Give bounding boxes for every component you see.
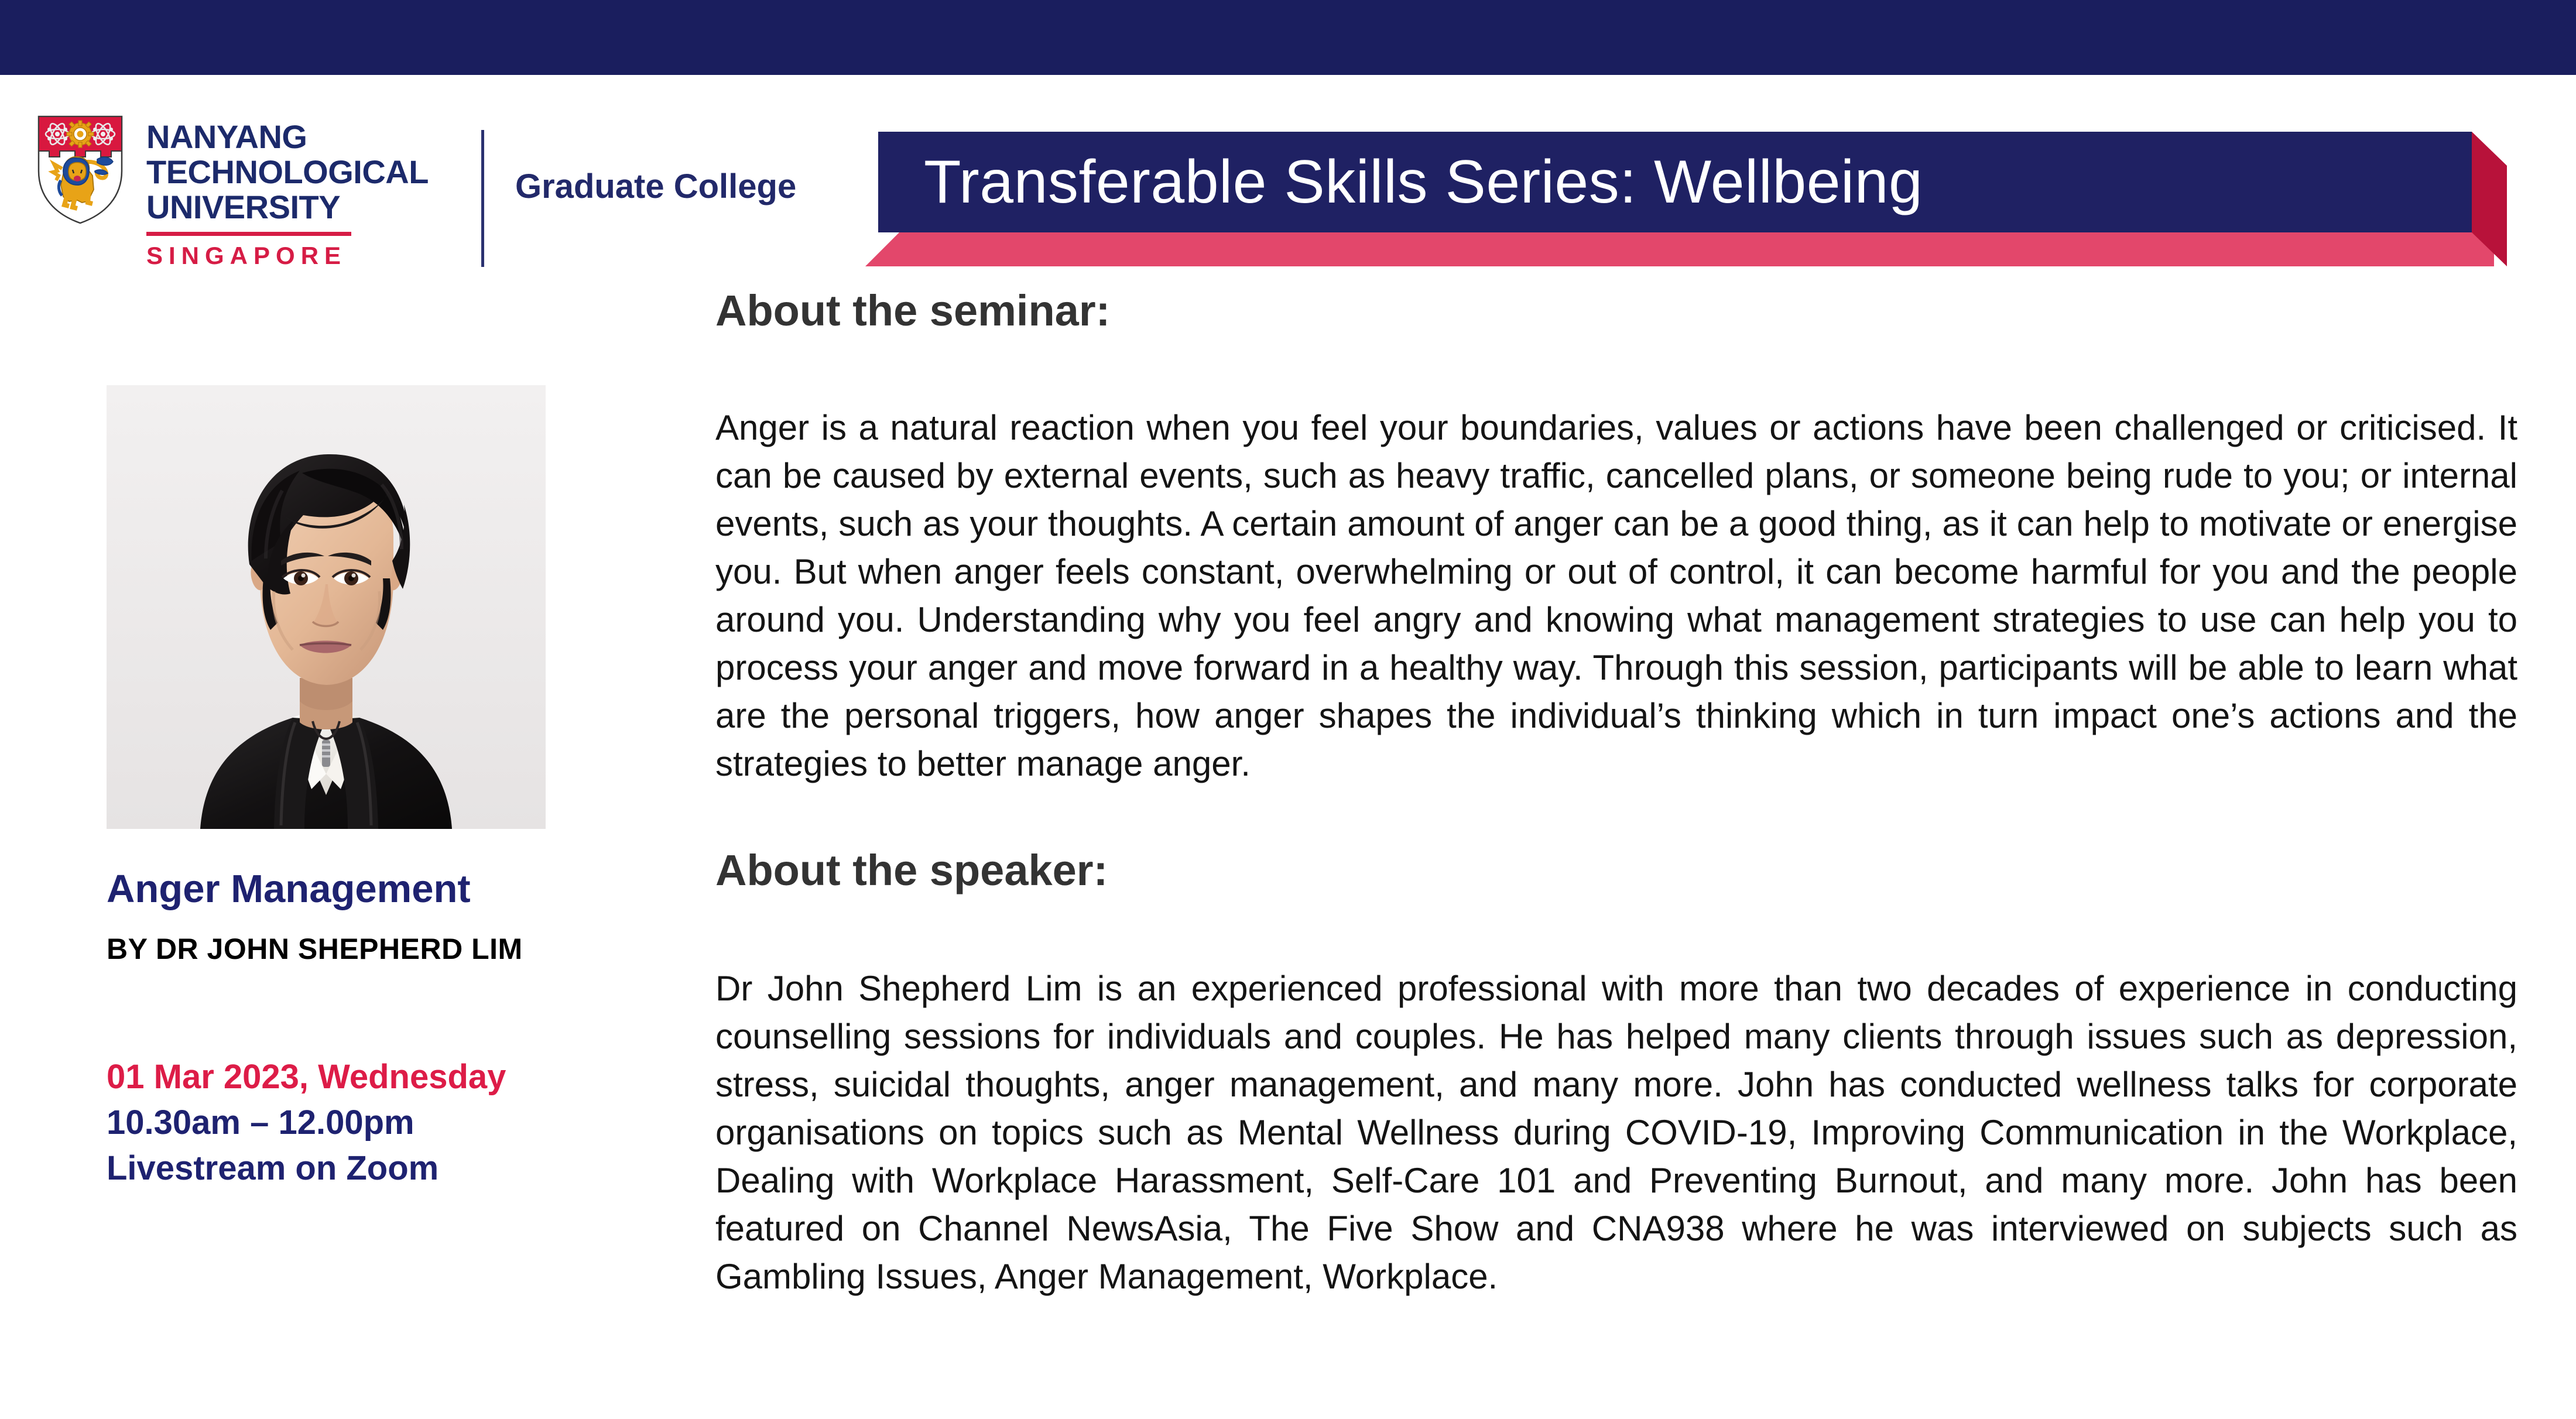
talk-title: Anger Management: [107, 866, 471, 911]
about-speaker-heading: About the speaker:: [715, 846, 2517, 894]
graduate-college-label: Graduate College: [515, 167, 796, 206]
content-column: About the seminar: Anger is a natural re…: [715, 287, 2517, 1301]
banner-block: Transferable Skills Series: Wellbeing: [878, 132, 2472, 232]
about-speaker-body: Dr John Shepherd Lim is an experienced p…: [715, 965, 2517, 1301]
top-navy-bar: [0, 0, 2576, 75]
ntu-crest-icon: [36, 115, 124, 225]
event-venue: Livestream on Zoom: [107, 1149, 439, 1188]
about-seminar-body: Anger is a natural reaction when you fee…: [715, 404, 2517, 788]
event-time: 10.30am – 12.00pm: [107, 1103, 415, 1142]
logo-divider: [481, 130, 484, 267]
brand-line-3: UNIVERSITY: [146, 190, 429, 225]
brand-country: SINGAPORE: [146, 242, 429, 270]
speaker-portrait-illustration: [107, 385, 546, 829]
brand-rule: [146, 232, 351, 236]
ntu-wordmark: NANYANG TECHNOLOGICAL UNIVERSITY SINGAPO…: [146, 115, 429, 270]
ntu-logo-lockup: NANYANG TECHNOLOGICAL UNIVERSITY SINGAPO…: [36, 115, 429, 270]
speaker-photo: [107, 385, 546, 829]
event-date: 01 Mar 2023, Wednesday: [107, 1057, 506, 1096]
banner-title-text: Transferable Skills Series: Wellbeing: [878, 150, 1923, 214]
brand-line-2: TECHNOLOGICAL: [146, 155, 429, 190]
title-banner: Transferable Skills Series: Wellbeing: [878, 132, 2494, 266]
talk-byline: BY DR JOHN SHEPHERD LIM: [107, 932, 523, 966]
brand-line-1: NANYANG: [146, 119, 429, 155]
about-seminar-heading: About the seminar:: [715, 287, 2517, 335]
